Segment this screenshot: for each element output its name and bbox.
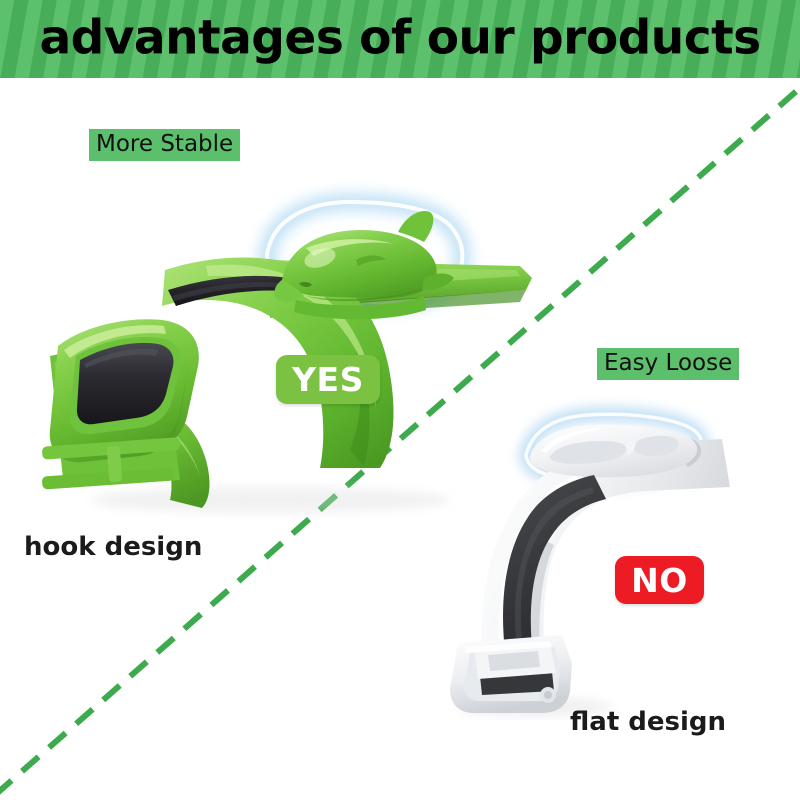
product-image-white-flat-clamp xyxy=(430,395,760,720)
clamp-buckle-white xyxy=(450,635,572,713)
caption-flat-design: flat design xyxy=(570,709,726,735)
dolphin-figure-icon xyxy=(274,211,454,302)
badge-yes: YES xyxy=(276,355,380,404)
infographic-canvas: advantages of our products xyxy=(0,0,800,800)
buckle-slat-divider xyxy=(107,446,122,483)
caption-hook-design: hook design xyxy=(24,534,202,560)
page-title: advantages of our products xyxy=(0,15,800,62)
header-banner: advantages of our products xyxy=(0,0,800,78)
product-shadow xyxy=(90,487,450,513)
badge-no: NO xyxy=(615,556,704,604)
label-more-stable: More Stable xyxy=(89,129,240,161)
label-easy-loose: Easy Loose xyxy=(597,348,739,380)
